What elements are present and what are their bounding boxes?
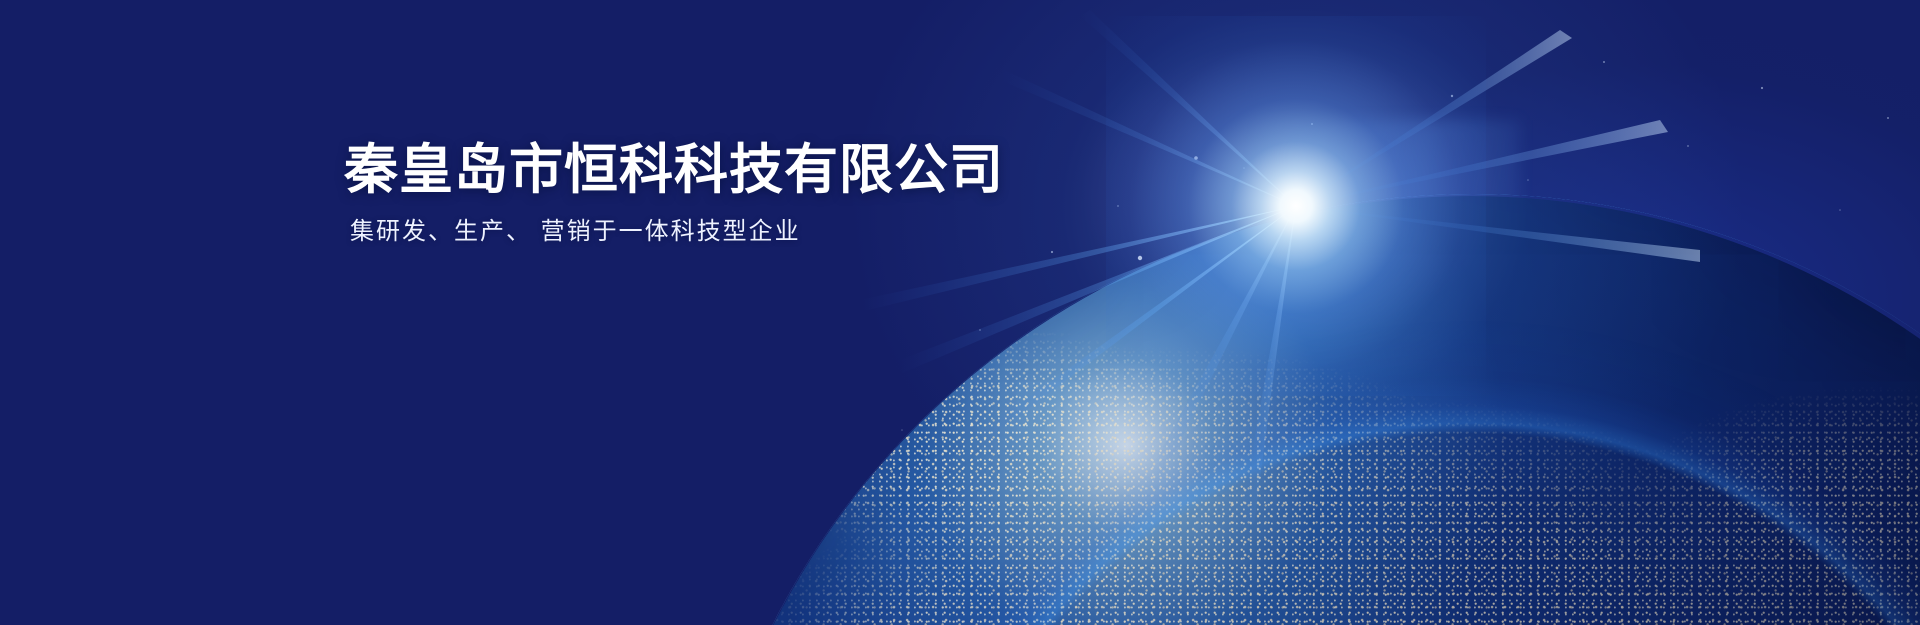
starfield [0,0,1920,625]
page-tagline: 集研发、生产、 营销于一体科技型企业 [350,216,1344,247]
space-tint [0,0,1920,625]
globe-terminator-shading [690,196,1920,625]
sunrise-flare-rays [0,0,1920,625]
earth-globe [690,196,1920,625]
flare-bloom [846,0,1746,586]
page-title: 秦皇岛市恒科科技有限公司 [344,140,1344,200]
hero-banner: 秦皇岛市恒科科技有限公司 集研发、生产、 营销于一体科技型企业 [0,0,1920,625]
hero-copy: 秦皇岛市恒科科技有限公司 集研发、生产、 营销于一体科技型企业 [344,140,1344,248]
city-lights-texture [690,196,1920,625]
globe-surface [690,196,1920,625]
atmospheric-glow-rim [688,194,1920,625]
background-artwork [0,0,1920,625]
